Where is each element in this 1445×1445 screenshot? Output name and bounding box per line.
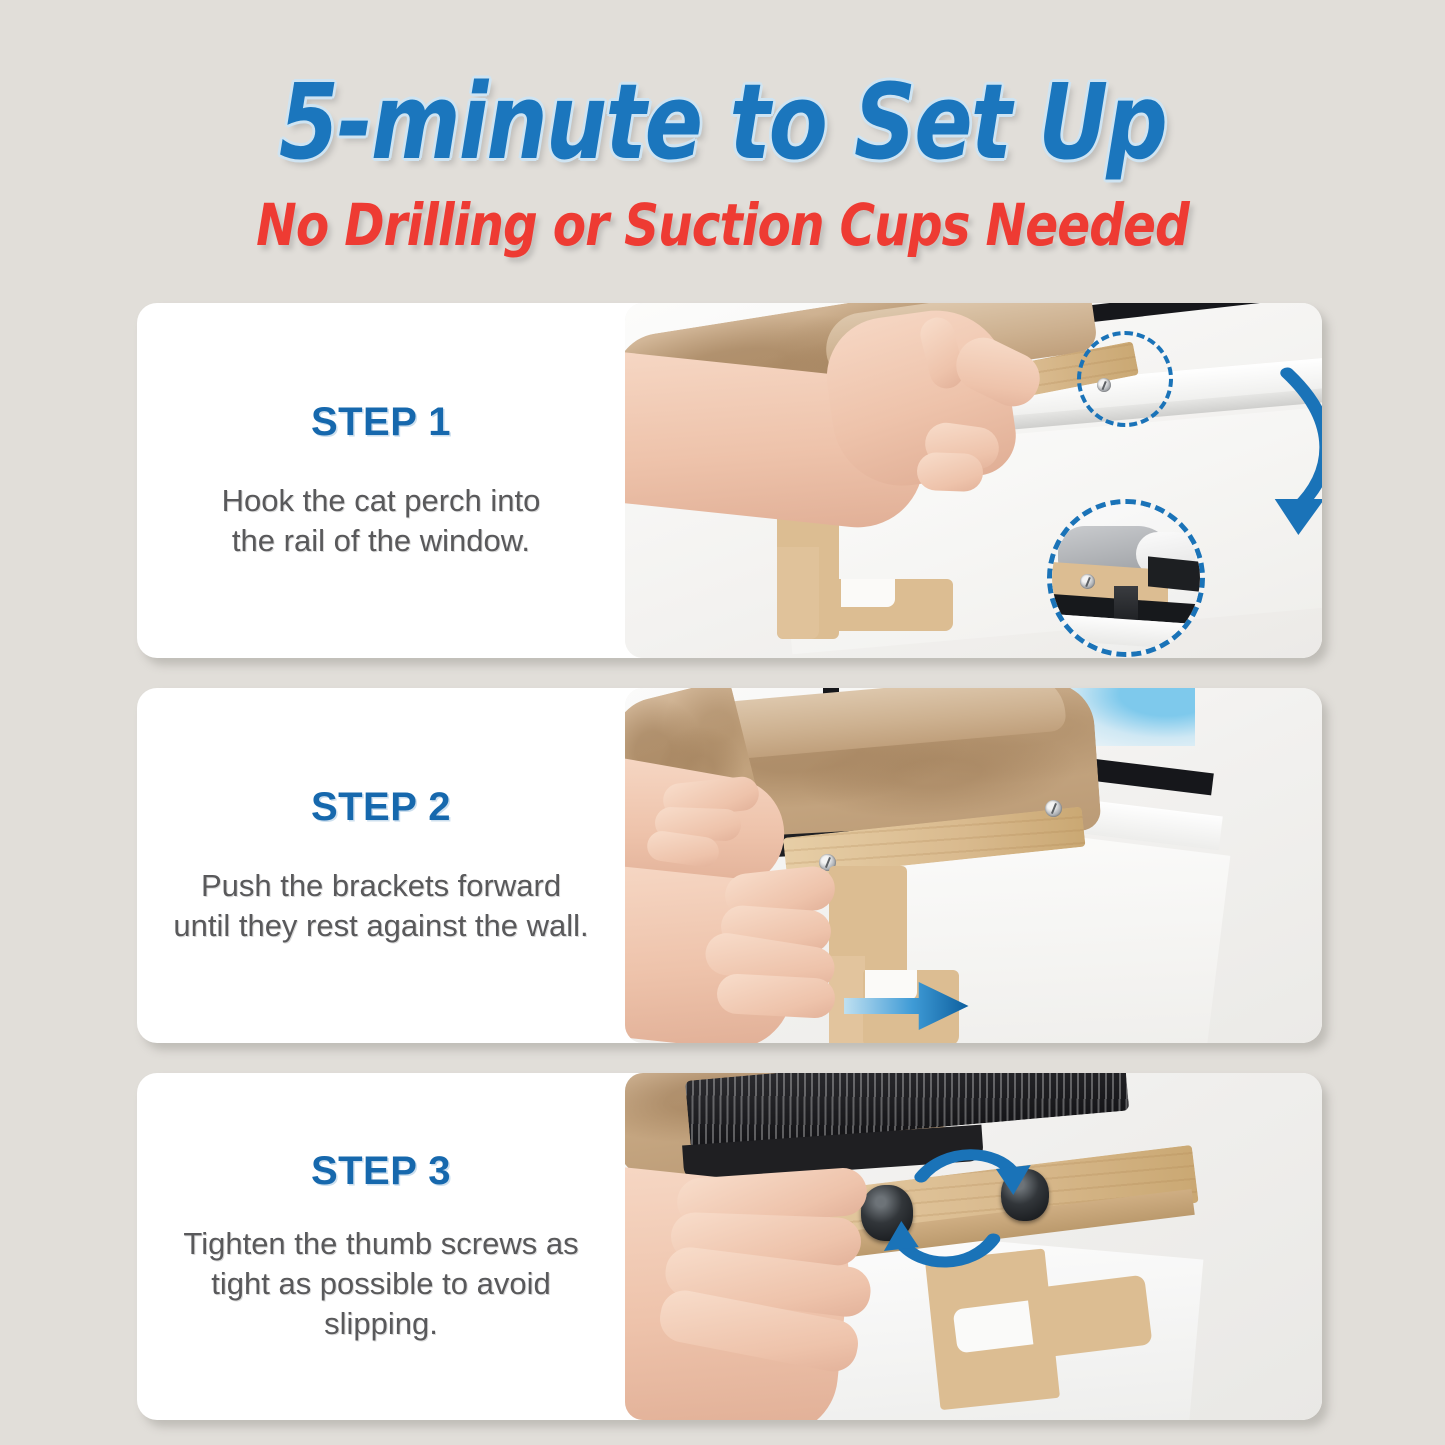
- step-1-title: STEP 1: [311, 400, 451, 445]
- photo-2-finger-l4: [716, 973, 836, 1019]
- step-3-description-line-3: slipping.: [183, 1304, 578, 1344]
- step-1-description-line-1: Hook the cat perch into: [222, 481, 541, 521]
- step-3-description: Tighten the thumb screws as tight as pos…: [183, 1224, 578, 1345]
- photo-1-inset-screw: [1080, 574, 1095, 589]
- step-2-description-line-2: until they rest against the wall.: [173, 906, 588, 946]
- page-title: 5-minute to Set Up: [58, 70, 1387, 174]
- step-3-description-line-2: tight as possible to avoid: [183, 1264, 578, 1304]
- photo-2-hook-gap: [865, 970, 917, 1000]
- step-3-description-line-1: Tighten the thumb screws as: [183, 1224, 578, 1264]
- step-3-title: STEP 3: [311, 1149, 451, 1194]
- step-card-1: STEP 1 Hook the cat perch into the rail …: [137, 303, 1322, 658]
- photo-1-dashed-circle-callout: [1077, 331, 1173, 427]
- photo-3-thumb-screw-1[interactable]: [861, 1185, 913, 1241]
- step-1-description: Hook the cat perch into the rail of the …: [222, 481, 541, 562]
- photo-3-hook-gap: [953, 1301, 1034, 1354]
- step-2-photo: [625, 688, 1322, 1043]
- step-3-text-pane: STEP 3 Tighten the thumb screws as tight…: [137, 1073, 625, 1420]
- step-1-description-line-2: the rail of the window.: [222, 521, 541, 561]
- step-1-text-pane: STEP 1 Hook the cat perch into the rail …: [137, 303, 625, 658]
- step-2-text-pane: STEP 2 Push the brackets forward until t…: [137, 688, 625, 1043]
- photo-3-thumb-screw-2[interactable]: [1001, 1169, 1049, 1221]
- photo-2-screw-right: [1045, 800, 1062, 817]
- photo-1-finger-4: [916, 452, 983, 492]
- step-2-description: Push the brackets forward until they res…: [173, 866, 588, 947]
- photo-1-hook-gap: [841, 579, 895, 607]
- header: 5-minute to Set Up No Drilling or Suctio…: [0, 0, 1445, 290]
- page-subtitle: No Drilling or Suction Cups Needed: [51, 196, 1395, 254]
- step-1-photo: [625, 303, 1322, 658]
- step-card-2: STEP 2 Push the brackets forward until t…: [137, 688, 1322, 1043]
- step-card-3: STEP 3 Tighten the thumb screws as tight…: [137, 1073, 1322, 1420]
- step-2-title: STEP 2: [311, 785, 451, 830]
- photo-1-detail-inset: [1047, 499, 1205, 657]
- photo-1-bracket-notch: [777, 547, 819, 639]
- step-3-photo: [625, 1073, 1322, 1420]
- step-2-description-line-1: Push the brackets forward: [173, 866, 588, 906]
